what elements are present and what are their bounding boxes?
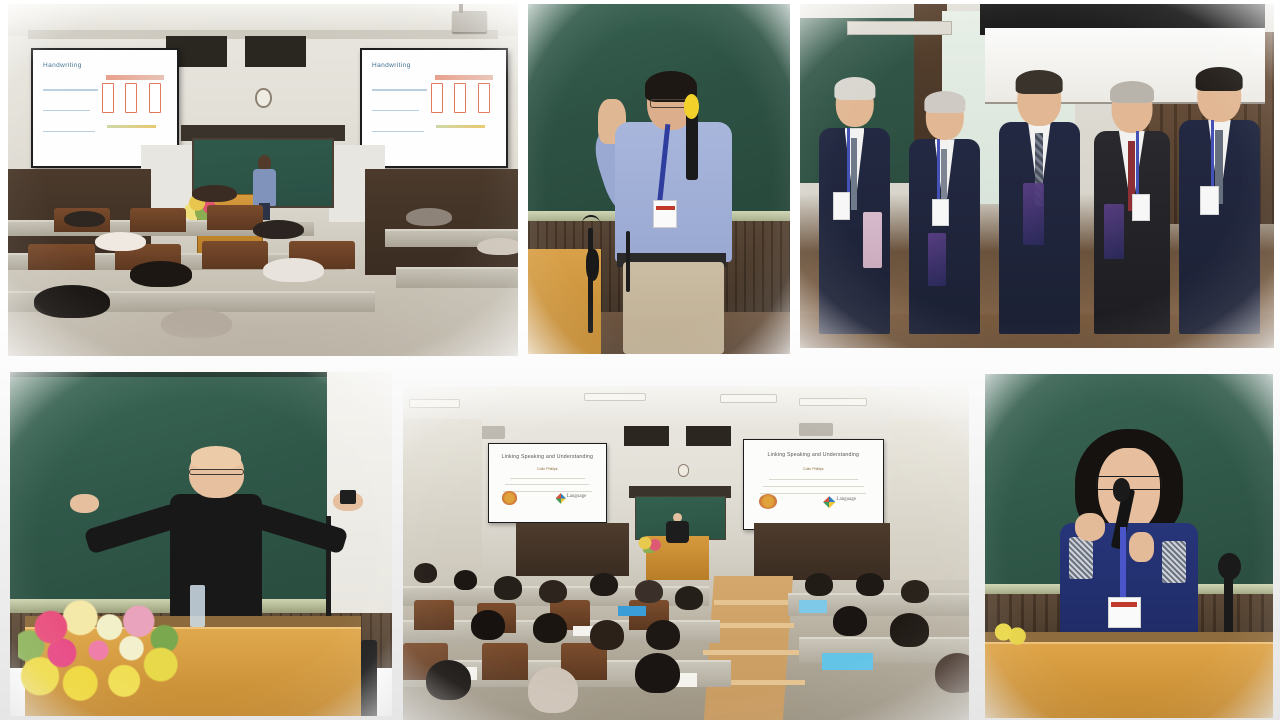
lanyard <box>847 128 849 194</box>
chair <box>130 208 186 232</box>
lanyard <box>937 139 939 202</box>
slide-left-figure <box>101 75 170 128</box>
slide-right-title: Handwriting <box>372 62 411 69</box>
glasses-icon <box>189 469 244 475</box>
slide-left-title: Linking Speaking and Understanding <box>496 454 599 460</box>
slide-left-title: Handwriting <box>43 62 82 69</box>
speaker-shirt <box>615 122 732 262</box>
speaker-figure <box>1054 429 1204 663</box>
audience-head <box>34 285 111 318</box>
person-5 <box>1179 69 1260 334</box>
figure-panel <box>454 83 466 113</box>
wood-wall-right <box>754 523 890 580</box>
projector-icon <box>452 11 488 32</box>
photo-audience-hall[interactable]: Linking Speaking and Understanding Colin… <box>403 386 969 720</box>
person-1 <box>819 80 890 335</box>
side-wall-right <box>890 419 969 579</box>
laptop <box>799 600 827 613</box>
award-trophy <box>1023 183 1044 246</box>
slide-text-line <box>43 131 95 132</box>
ceiling-light <box>409 399 460 407</box>
name-badge <box>1108 597 1141 627</box>
podium <box>985 642 1273 718</box>
photo-woman-microphone[interactable] <box>985 374 1273 718</box>
audience-head <box>635 580 663 603</box>
figure-header-bar <box>106 75 164 79</box>
figure-panel <box>125 83 137 113</box>
speaker-figure <box>607 74 743 354</box>
slide-text-line <box>43 89 98 90</box>
audience-head <box>130 261 191 286</box>
photo-lecture-hall-handwriting[interactable]: Handwriting Handwriting <box>8 4 518 356</box>
person-hair <box>1016 70 1063 94</box>
desk-row-right <box>396 267 518 288</box>
lanyard <box>1136 131 1138 196</box>
figure-header-bar <box>435 75 493 79</box>
audience-head <box>426 660 471 700</box>
audience-head <box>477 238 518 256</box>
audience-head <box>590 573 618 596</box>
figure-panel <box>149 83 161 113</box>
audience-head <box>263 258 324 282</box>
figure-panel <box>478 83 490 113</box>
ceiling-light <box>720 394 777 402</box>
person-hair <box>1196 67 1243 91</box>
chair <box>28 244 94 271</box>
flower-arrangement <box>18 592 201 709</box>
ceiling-beam-right <box>686 426 731 446</box>
photo-2-scene <box>528 4 790 354</box>
folder <box>618 606 646 616</box>
audience-head <box>471 610 505 640</box>
ceiling-beam-right <box>245 36 306 68</box>
wall-clock-icon <box>678 464 690 476</box>
audience-head <box>533 613 567 643</box>
audience-head <box>192 185 238 203</box>
slide-right-title: Linking Speaking and Understanding <box>752 452 875 458</box>
name-badge <box>653 200 678 228</box>
slide-left-presenter: Colin Phillips <box>496 467 599 471</box>
slide-right-figure <box>430 75 499 128</box>
wood-wall-left <box>516 523 629 576</box>
audience-head <box>590 620 624 650</box>
ceiling-light <box>584 393 646 401</box>
person-hair <box>924 91 965 113</box>
slide-text-line <box>43 110 90 111</box>
person-hair <box>1110 81 1154 104</box>
audience-head <box>95 232 146 251</box>
ceiling-beam-left <box>624 426 669 446</box>
projection-screen-left: Linking Speaking and Understanding Colin… <box>488 443 607 523</box>
audience-head <box>856 573 884 596</box>
audience-head <box>646 620 680 650</box>
photo-6-scene <box>985 374 1273 718</box>
audience-seating <box>8 208 518 356</box>
logo-mark-icon <box>823 496 835 508</box>
badge-header-stripe <box>656 206 675 210</box>
audience-head <box>539 580 567 603</box>
wall-clock-icon <box>255 88 271 108</box>
audience-head <box>161 309 232 339</box>
side-wall-left <box>403 419 482 569</box>
chair <box>414 600 454 630</box>
audience-head <box>935 653 969 693</box>
award-trophy <box>863 212 881 268</box>
person-2 <box>909 93 980 334</box>
ceiling-light <box>799 398 867 406</box>
speaker-torso <box>253 169 276 206</box>
audience-head <box>64 211 105 227</box>
slide-right-presenter: Colin Phillips <box>752 467 875 471</box>
name-badge <box>932 199 949 225</box>
microphone-head <box>586 249 599 281</box>
necktie <box>851 138 857 209</box>
floor-microphone <box>361 640 376 716</box>
person-hair <box>834 77 875 100</box>
photo-collage: Handwriting Handwriting <box>0 0 1280 720</box>
speaker-right-hand <box>1129 532 1154 562</box>
slide-text-line <box>769 479 858 480</box>
microphone-stand <box>588 228 593 333</box>
projection-screen-right: Linking Speaking and Understanding Colin… <box>743 439 885 529</box>
name-badge <box>1200 186 1219 215</box>
photo-speaker-microphone[interactable] <box>528 4 790 354</box>
audience-head <box>414 563 437 583</box>
chair <box>482 643 527 680</box>
name-badge <box>833 192 850 220</box>
audience-head <box>901 580 929 603</box>
slide-text-line <box>372 89 427 90</box>
speaker-scalp <box>191 446 241 469</box>
figure-panel <box>102 83 114 113</box>
photo-award-group[interactable] <box>800 4 1274 348</box>
photo-3-scene <box>800 4 1274 348</box>
shirt-cuff-left <box>1069 537 1093 579</box>
aisle-step <box>709 623 794 628</box>
center-aisle <box>704 576 793 720</box>
figure-panel <box>431 83 443 113</box>
slide-text-line <box>505 484 589 485</box>
person-4 <box>1094 83 1170 334</box>
audience-head <box>805 573 833 596</box>
speaker-left-hand <box>70 494 100 513</box>
audience-head <box>833 606 867 636</box>
tote-bag <box>822 653 873 670</box>
trousers <box>623 262 724 354</box>
language-logo: Language <box>823 493 870 512</box>
speaker-left-hand <box>1075 513 1105 541</box>
name-badge <box>1132 194 1150 222</box>
university-seal-icon <box>502 491 517 504</box>
award-trophy <box>1104 204 1124 259</box>
lapel-microphone <box>626 231 630 293</box>
aisle-step <box>703 650 799 655</box>
audience-head <box>253 220 304 239</box>
presentation-clicker <box>340 490 356 503</box>
wall-rail <box>847 21 951 35</box>
logo-mark-icon <box>556 493 566 504</box>
photo-keynote-speaker[interactable] <box>10 372 392 716</box>
audience-head <box>528 667 579 714</box>
figure-footer-bar <box>436 125 484 128</box>
lanyard <box>1120 527 1126 607</box>
audience-head <box>635 653 680 693</box>
aisle-step <box>714 600 788 605</box>
flower-arrangement <box>985 615 1031 649</box>
slide-text-line <box>372 131 424 132</box>
lanyard <box>1211 120 1213 189</box>
logo-text: Language <box>567 494 587 499</box>
slide-text-line <box>763 486 863 487</box>
presenter-figure <box>666 513 689 543</box>
microphone-windscreen <box>684 94 699 119</box>
audience-head <box>675 586 703 609</box>
chair <box>202 241 268 269</box>
person-3 <box>999 73 1080 334</box>
logo-text: Language <box>836 497 856 502</box>
shirt-cuff-right <box>1162 541 1186 583</box>
presenter-torso <box>666 521 689 543</box>
slide-text-line <box>372 110 419 111</box>
audience-head <box>890 613 930 646</box>
audience-head <box>494 576 522 599</box>
audience-head <box>406 208 452 226</box>
photo-5-scene: Linking Speaking and Understanding Colin… <box>403 386 969 720</box>
photo-4-scene <box>10 372 392 716</box>
slide-text-line <box>510 478 585 479</box>
photo-1-scene: Handwriting Handwriting <box>8 4 518 356</box>
audience-head <box>454 570 477 590</box>
microphone-windscreen <box>1113 478 1131 501</box>
language-logo: Language <box>556 491 596 508</box>
projector-icon <box>799 423 833 436</box>
badge-header-stripe <box>1111 602 1137 607</box>
figure-footer-bar <box>107 125 155 128</box>
flower-arrangement <box>629 533 669 553</box>
university-seal-icon <box>759 494 777 509</box>
award-trophy <box>928 233 946 286</box>
